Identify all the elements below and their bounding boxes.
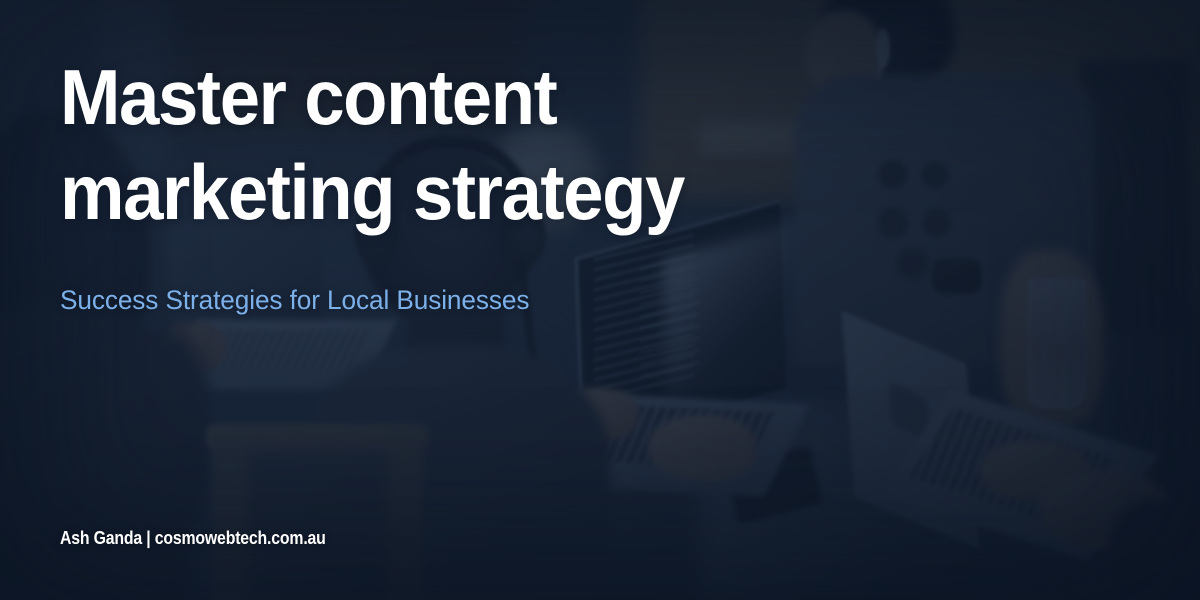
promo-banner: Master content marketing strategy Succes…: [0, 0, 1200, 600]
page-title: Master content marketing strategy: [60, 50, 878, 240]
banner-content: Master content marketing strategy Succes…: [0, 0, 1200, 600]
author-attribution: Ash Ganda | cosmowebtech.com.au: [60, 528, 326, 549]
page-subtitle: Success Strategies for Local Businesses: [60, 285, 529, 316]
